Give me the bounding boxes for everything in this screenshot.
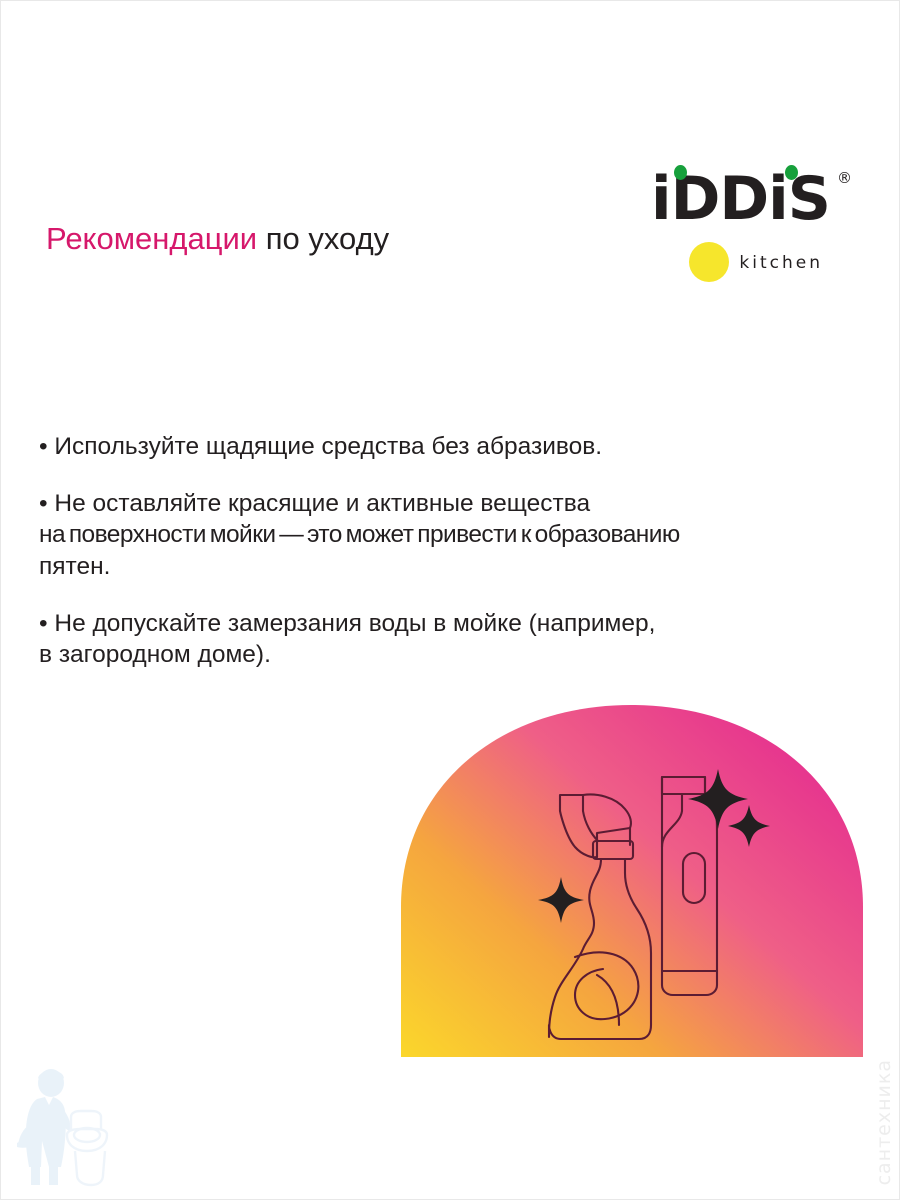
iddis-kitchen-logo: iDDiS ® kitchen <box>651 169 851 289</box>
logo-dot-first-i-icon <box>674 165 687 180</box>
registered-trademark-icon: ® <box>837 171 851 186</box>
bullet-line: • Используйте щадящие средства без абраз… <box>39 431 869 462</box>
bullet-line: • Не оставляйте красящие и активные веще… <box>39 488 869 519</box>
list-item: • Не допускайте замерзания воды в мойке … <box>39 608 869 671</box>
page-title: Рекомендации по уходу <box>46 220 389 257</box>
bullet-line: в загородном доме). <box>39 639 869 670</box>
site-watermark-text: сантехника <box>873 1059 895 1185</box>
logo-subbrand-row: kitchen <box>651 243 851 285</box>
slide-page: iDDiS ® kitchen Рекомендации по уходу • … <box>0 0 900 1200</box>
bullet-line: на поверхности мойки — это может привест… <box>39 519 869 550</box>
list-item: • Используйте щадящие средства без абраз… <box>39 431 869 462</box>
bullet-line: пятен. <box>39 551 869 582</box>
page-title-plain: по уходу <box>257 221 389 256</box>
plumber-toilet-watermark <box>9 1063 131 1191</box>
page-title-accent: Рекомендации <box>46 221 257 256</box>
care-recommendations-list: • Используйте щадящие средства без абраз… <box>39 406 869 697</box>
logo-yellow-circle-icon <box>689 242 729 282</box>
cleaning-products-illustration <box>397 695 875 1057</box>
logo-wordmark-row: iDDiS ® <box>651 169 851 229</box>
logo-dot-second-i-icon <box>785 165 798 180</box>
logo-subbrand-text: kitchen <box>739 243 823 283</box>
bullet-line: • Не допускайте замерзания воды в мойке … <box>39 608 869 639</box>
list-item: • Не оставляйте красящие и активные веще… <box>39 488 869 582</box>
